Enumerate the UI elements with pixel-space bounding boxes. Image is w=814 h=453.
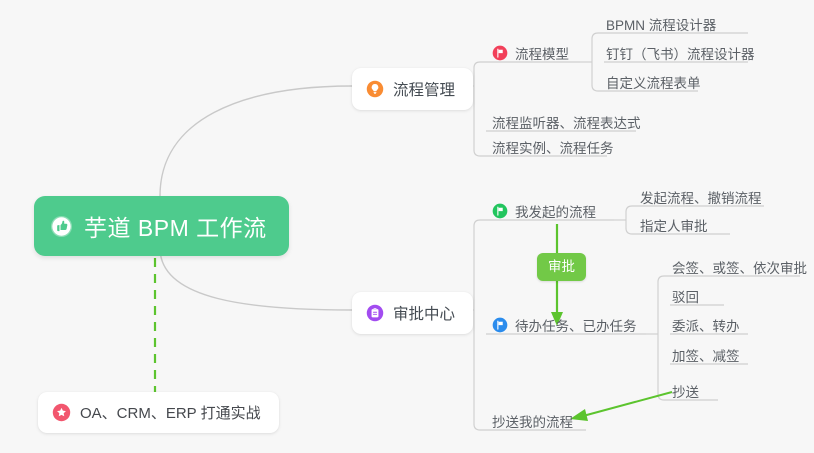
lightbulb-icon bbox=[366, 80, 384, 98]
mindmap-canvas: 芋道 BPM 工作流 流程管理 流程模型 BPMN 流程设计器 钉钉（飞书 bbox=[0, 0, 814, 453]
node-label-add-remove-sign: 加签、减签 bbox=[672, 345, 740, 365]
node-label-my-initiated-process: 我发起的流程 bbox=[515, 201, 596, 221]
branch-node-process-management[interactable]: 流程管理 bbox=[352, 68, 473, 110]
node-label-cc-to-me-process: 抄送我的流程 bbox=[492, 411, 573, 431]
node-label-custom-process-form: 自定义流程表单 bbox=[606, 72, 701, 92]
dashed-link-note-to-root bbox=[150, 243, 160, 395]
node-reject[interactable]: 驳回 bbox=[670, 283, 708, 311]
node-label-delegate-transfer: 委派、转办 bbox=[672, 315, 740, 335]
node-delegate-transfer[interactable]: 委派、转办 bbox=[670, 312, 749, 340]
branch-label-approval-center: 审批中心 bbox=[393, 302, 455, 324]
star-icon bbox=[52, 403, 71, 422]
node-countersign[interactable]: 会签、或签、依次审批 bbox=[670, 254, 814, 282]
flag-icon bbox=[492, 203, 508, 219]
thumbs-up-icon bbox=[50, 215, 73, 238]
approval-tag[interactable]: 审批 bbox=[537, 253, 586, 281]
node-label-start-cancel-process: 发起流程、撤销流程 bbox=[640, 187, 762, 207]
node-assignee-approval[interactable]: 指定人审批 bbox=[638, 212, 717, 240]
root-label: 芋道 BPM 工作流 bbox=[84, 209, 267, 243]
cc-link-arrow bbox=[570, 392, 672, 421]
node-label-reject: 驳回 bbox=[672, 286, 699, 306]
node-cc-to-me-process[interactable]: 抄送我的流程 bbox=[490, 408, 582, 436]
node-process-listener-expression[interactable]: 流程监听器、流程表达式 bbox=[490, 109, 650, 137]
node-label-process-listener-expression: 流程监听器、流程表达式 bbox=[492, 112, 641, 132]
branch-label-process-management: 流程管理 bbox=[393, 78, 455, 100]
clipboard-icon bbox=[366, 304, 384, 322]
branch-node-approval-center[interactable]: 审批中心 bbox=[352, 292, 473, 334]
node-label-assignee-approval: 指定人审批 bbox=[640, 215, 708, 235]
note-label: OA、CRM、ERP 打通实战 bbox=[80, 402, 261, 423]
node-add-remove-sign[interactable]: 加签、减签 bbox=[670, 342, 749, 370]
node-process-model[interactable]: 流程模型 bbox=[490, 40, 578, 68]
node-label-process-instance-task: 流程实例、流程任务 bbox=[492, 137, 614, 157]
node-label-bpmn-designer: BPMN 流程设计器 bbox=[606, 14, 716, 34]
node-start-cancel-process[interactable]: 发起流程、撤销流程 bbox=[638, 184, 771, 212]
node-custom-process-form[interactable]: 自定义流程表单 bbox=[604, 69, 710, 97]
flag-icon bbox=[492, 45, 508, 61]
node-my-initiated-process[interactable]: 我发起的流程 bbox=[490, 198, 605, 226]
node-label-cc: 抄送 bbox=[672, 381, 699, 401]
node-label-todo-done-tasks: 待办任务、已办任务 bbox=[515, 315, 637, 335]
node-process-instance-task[interactable]: 流程实例、流程任务 bbox=[490, 134, 623, 162]
note-node-integration[interactable]: OA、CRM、ERP 打通实战 bbox=[38, 392, 279, 433]
node-todo-done-tasks[interactable]: 待办任务、已办任务 bbox=[490, 312, 646, 340]
node-label-dingtalk-feishu-designer: 钉钉（飞书）流程设计器 bbox=[606, 43, 755, 63]
flag-icon bbox=[492, 317, 508, 333]
node-dingtalk-feishu-designer[interactable]: 钉钉（飞书）流程设计器 bbox=[604, 40, 764, 68]
approval-tag-label: 审批 bbox=[548, 259, 575, 274]
node-label-process-model: 流程模型 bbox=[515, 43, 569, 63]
node-cc[interactable]: 抄送 bbox=[670, 378, 708, 406]
node-bpmn-designer[interactable]: BPMN 流程设计器 bbox=[604, 11, 725, 39]
root-node[interactable]: 芋道 BPM 工作流 bbox=[34, 196, 289, 256]
node-label-countersign: 会签、或签、依次审批 bbox=[672, 257, 807, 277]
